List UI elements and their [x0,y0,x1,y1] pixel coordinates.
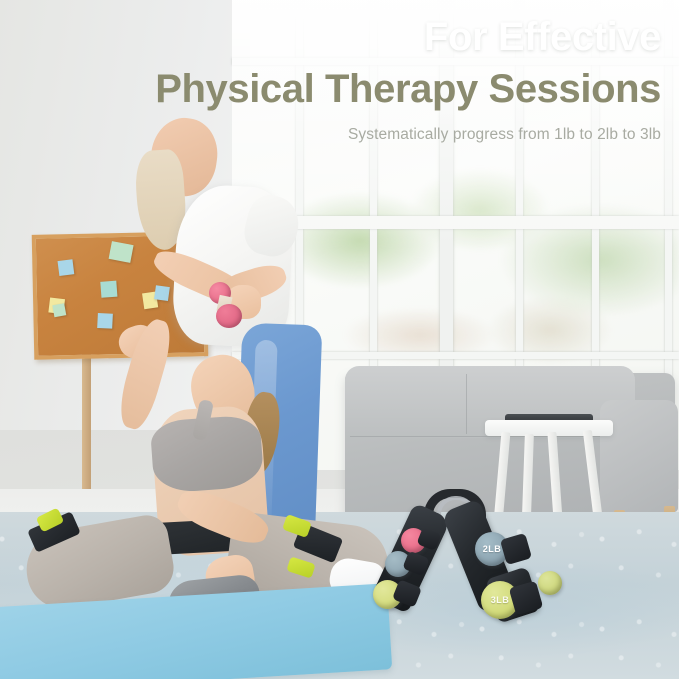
dumbbell-3lb-label: 3LB [491,595,510,605]
dumbbell-extra [538,571,562,595]
sticky-note [109,241,134,263]
held-dumbbell-end [216,304,242,328]
sofa-seam [466,374,467,434]
sticky-note [97,313,113,329]
sticky-note [154,285,170,301]
sofa-arm [600,400,678,512]
sticky-note [58,259,75,276]
product-lifestyle-banner: 2LB 3LB For Effective Physical Therapy S… [0,0,679,679]
dumbbell-2lb-label: 2LB [483,544,502,554]
window-glare [232,0,679,250]
sticky-note [52,303,66,317]
sticky-note [100,281,117,298]
